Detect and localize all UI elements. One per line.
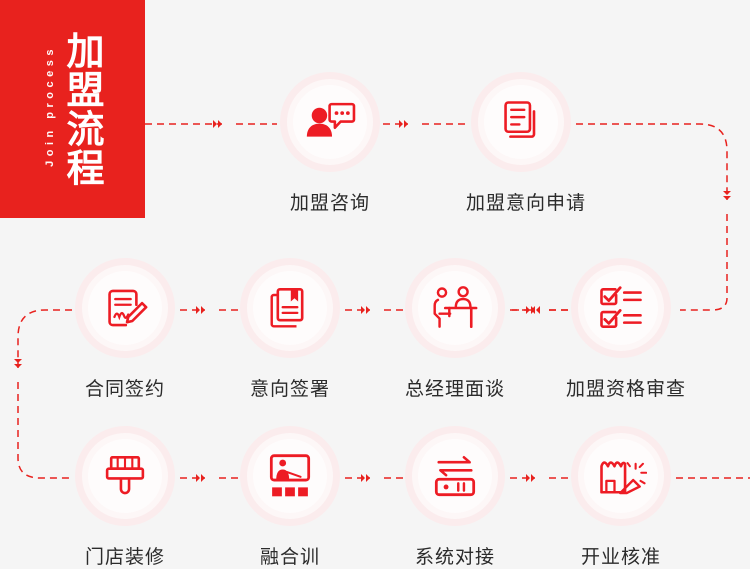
flow-step-circle (571, 426, 671, 526)
flow-step-circle (75, 258, 175, 358)
flow-step-门店装修[interactable]: 门店装修 (70, 426, 180, 569)
flow-step-融合训[interactable]: 融合训 (235, 426, 345, 569)
flow-step-label: 总经理面谈 (400, 374, 510, 401)
flow-step-加盟意向申请[interactable]: 加盟意向申请 (466, 72, 576, 215)
title-banner: 加盟流程 Join process (0, 0, 145, 218)
flow-step-label: 合同签约 (70, 374, 180, 401)
flow-step-label: 加盟咨询 (275, 188, 385, 215)
banner-subtitle: Join process (44, 45, 56, 167)
flow-step-label: 加盟资格审查 (566, 374, 676, 401)
flow-step-label: 加盟意向申请 (466, 188, 576, 215)
flow-step-意向签署[interactable]: 意向签署 (235, 258, 345, 401)
person-speech-bubble-icon (304, 96, 356, 148)
training-presentation-icon (264, 450, 316, 502)
contract-signature-pen-icon (99, 282, 151, 334)
flow-step-label: 融合训 (235, 542, 345, 569)
flow-step-合同签约[interactable]: 合同签约 (70, 258, 180, 401)
flow-step-label: 门店装修 (70, 542, 180, 569)
flow-step-加盟咨询[interactable]: 加盟咨询 (275, 72, 385, 215)
interview-desk-icon (429, 282, 481, 334)
flow-step-circle (471, 72, 571, 172)
checklist-icon (595, 282, 647, 334)
paint-brush-icon (99, 450, 151, 502)
flow-step-circle (280, 72, 380, 172)
banner-title: 加盟流程 (60, 31, 101, 187)
bookmarked-document-icon (264, 282, 316, 334)
join-process-flowchart: 加盟流程 Join process 加盟咨询 (0, 0, 750, 561)
server-exchange-icon (429, 450, 481, 502)
flow-step-总经理面谈[interactable]: 总经理面谈 (400, 258, 510, 401)
flow-step-开业核准[interactable]: 开业核准 (566, 426, 676, 569)
flow-step-circle (75, 426, 175, 526)
flow-step-label: 意向签署 (235, 374, 345, 401)
store-opening-confetti-icon (595, 450, 647, 502)
flow-step-circle (405, 258, 505, 358)
flow-step-label: 开业核准 (566, 542, 676, 569)
flow-step-circle (571, 258, 671, 358)
flow-step-circle (405, 426, 505, 526)
flow-step-circle (240, 258, 340, 358)
flow-step-系统对接[interactable]: 系统对接 (400, 426, 510, 569)
flow-step-label: 系统对接 (400, 542, 510, 569)
documents-stack-icon (495, 96, 547, 148)
flow-step-circle (240, 426, 340, 526)
flow-step-加盟资格审查[interactable]: 加盟资格审查 (566, 258, 676, 401)
